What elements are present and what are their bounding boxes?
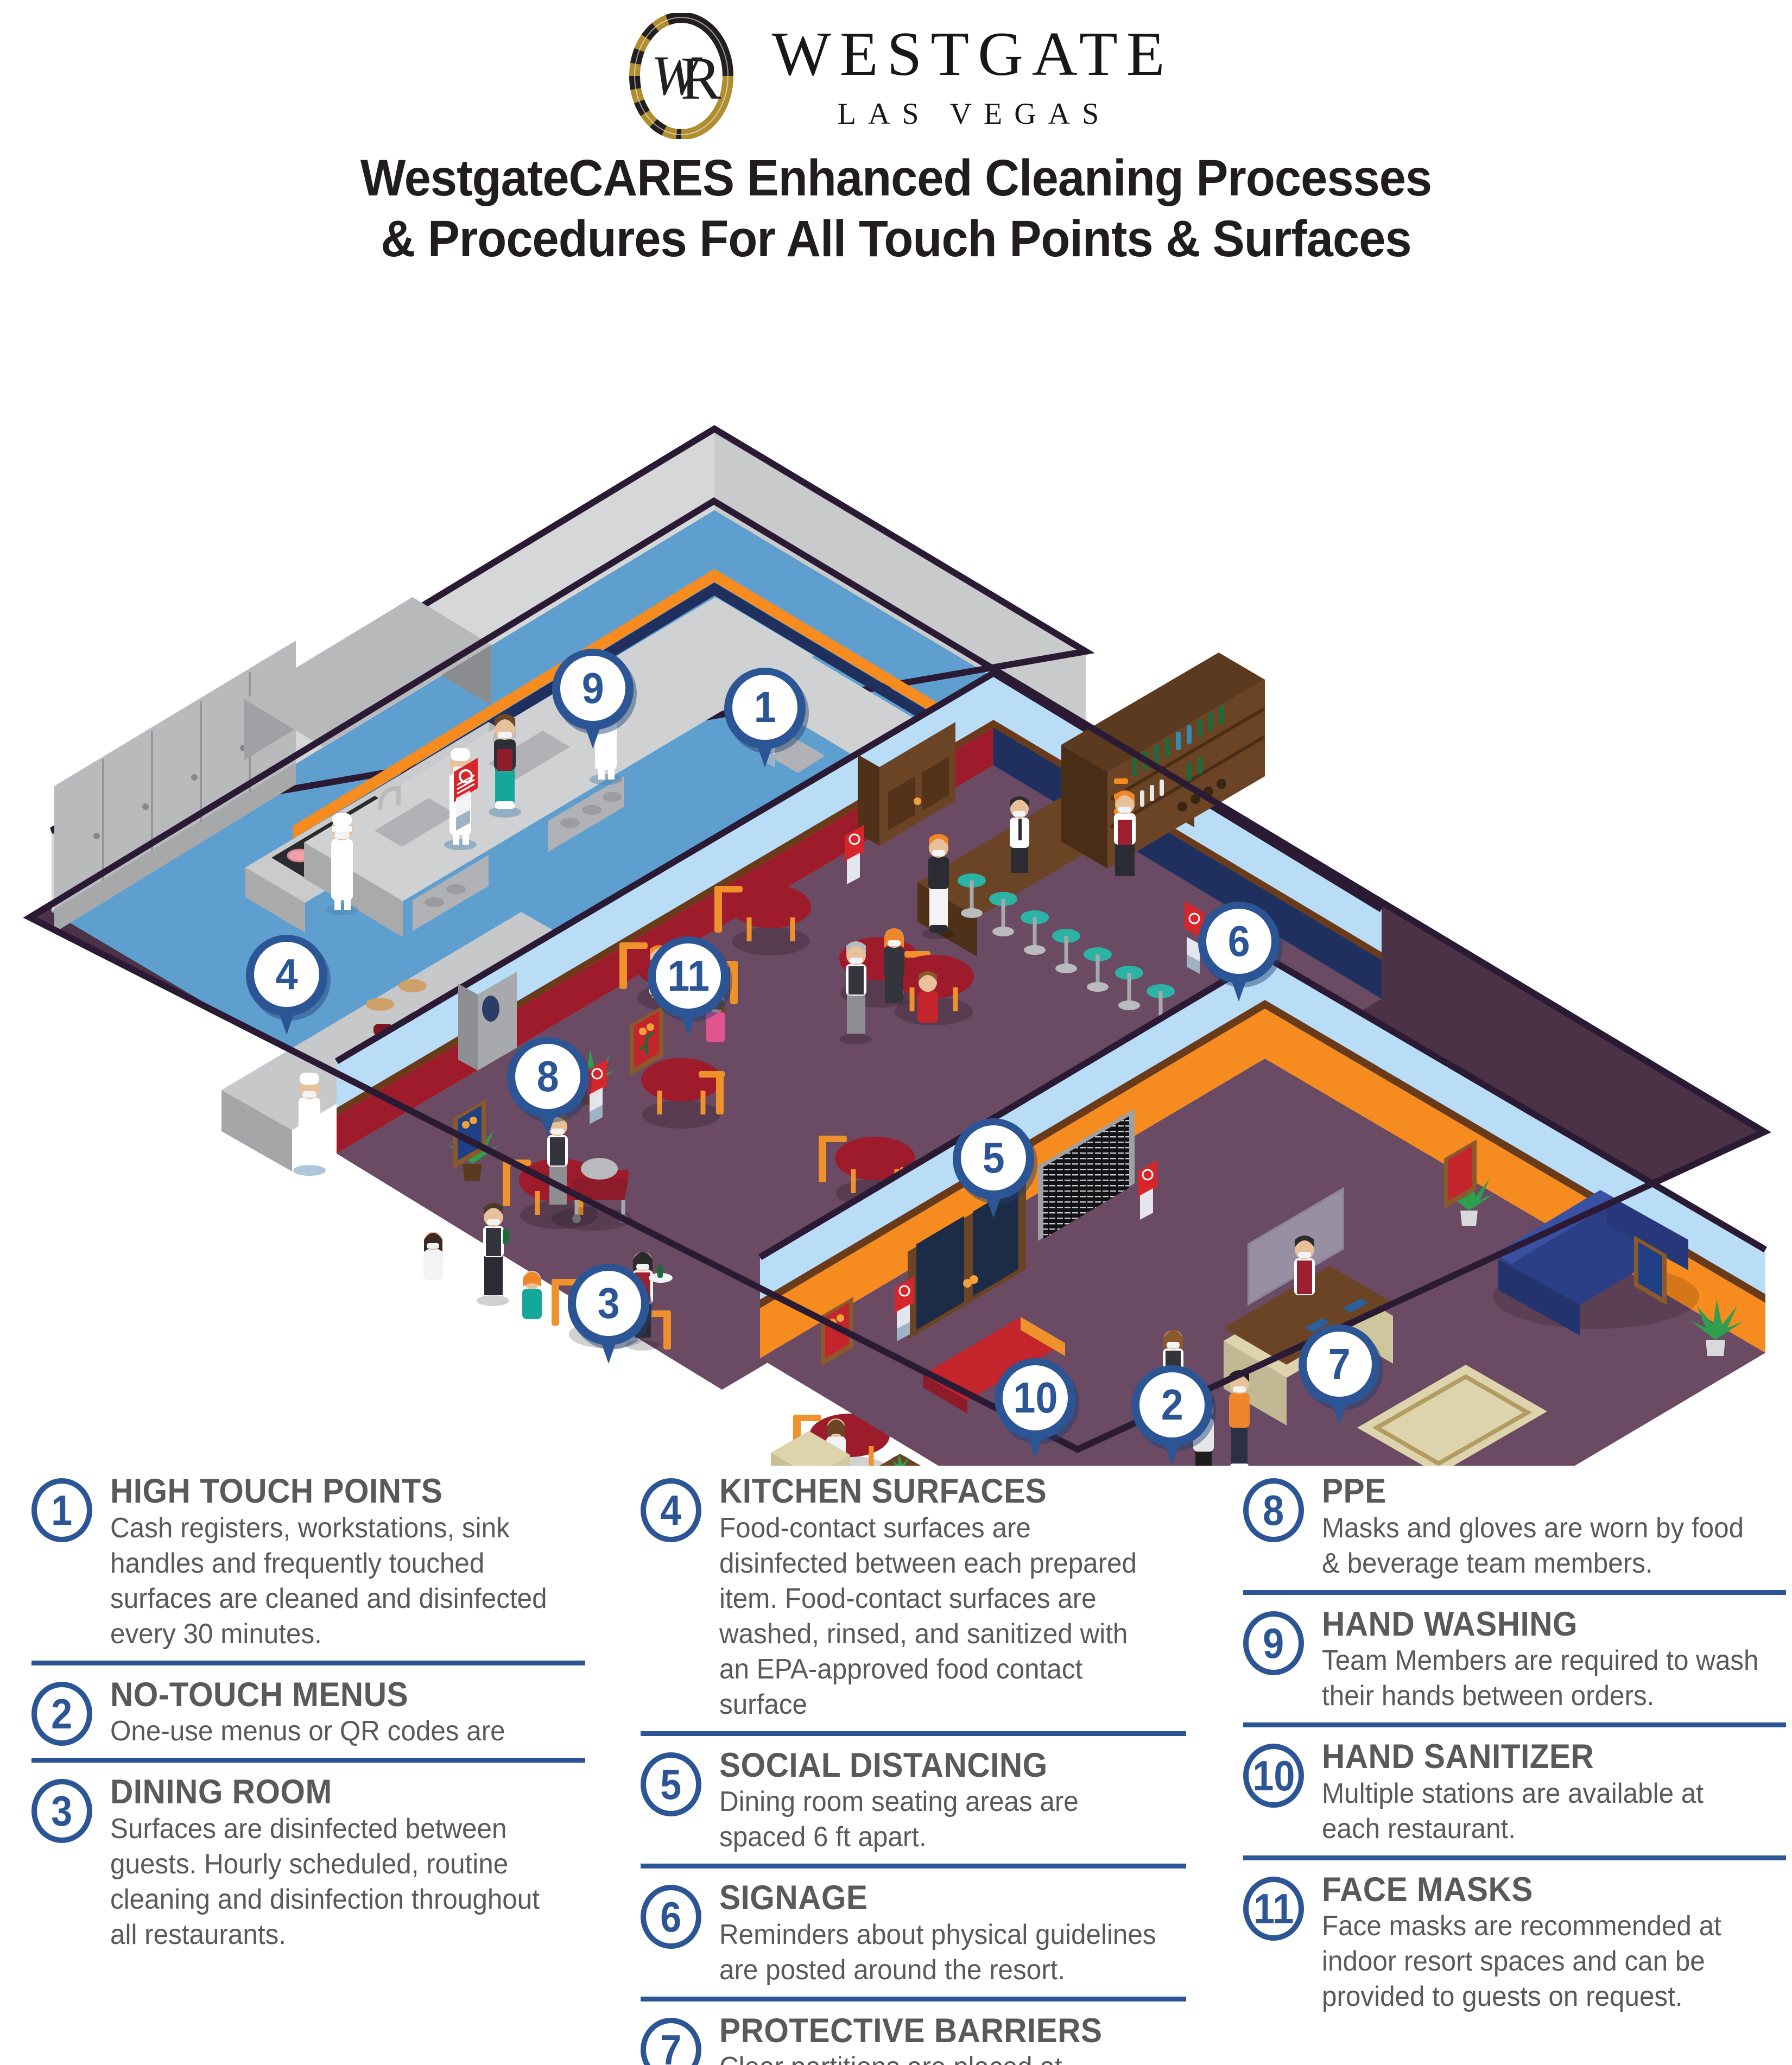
- pin-number: 10: [1013, 1376, 1058, 1420]
- legend-title: SOCIAL DISTANCING: [719, 1748, 1154, 1784]
- legend-item-hand-washing: 9 HAND WASHING Team Members are required…: [1243, 1607, 1786, 1714]
- pin-number: 2: [1161, 1383, 1183, 1427]
- legend-badge-10: 10: [1243, 1744, 1304, 1808]
- legend-item-signage: 6 SIGNAGE Reminders about physical guide…: [641, 1880, 1186, 1988]
- legend-body: Food-contact surfaces are disinfected be…: [719, 1511, 1163, 1722]
- pin-number: 11: [667, 954, 710, 998]
- pin-marker-1[interactable]: 1: [724, 668, 806, 769]
- legend: 1 HIGH TOUCH POINTS Cash registers, work…: [0, 1474, 1792, 2049]
- legend-title: DINING ROOM: [110, 1775, 552, 1810]
- legend-body: Multiple stations are available at each …: [1322, 1776, 1763, 1847]
- legend-badge-4: 4: [641, 1478, 701, 1542]
- legend-divider: [1243, 1722, 1786, 1727]
- pin-marker-7[interactable]: 7: [1299, 1325, 1380, 1426]
- pin-marker-11[interactable]: 11: [648, 936, 729, 1037]
- legend-title: NO-TOUCH MENUS: [110, 1677, 552, 1713]
- isometric-scene-svg: 6 FT: [0, 293, 1792, 1466]
- brand-logo: W R WESTGATE LAS VEGAS: [0, 11, 1792, 141]
- legend-title: HIGH TOUCH POINTS: [110, 1474, 552, 1510]
- legend-title: PPE: [1322, 1474, 1753, 1510]
- pin-number: 5: [983, 1136, 1005, 1180]
- pin-number: 4: [276, 953, 298, 996]
- pin-number: 3: [598, 1282, 620, 1325]
- pin-marker-3[interactable]: 3: [568, 1264, 649, 1365]
- pin-number: 6: [1228, 920, 1250, 963]
- legend-divider: [641, 1731, 1186, 1736]
- legend-divider: [641, 1864, 1186, 1868]
- title-line-1: WestgateCARES Enhanced Cleaning Processe…: [63, 148, 1730, 208]
- legend-body: Surfaces are disinfected between guests.…: [110, 1811, 561, 1953]
- legend-badge-11: 11: [1243, 1877, 1304, 1941]
- legend-title: PROTECTIVE BARRIERS: [719, 2013, 1154, 2049]
- brand-location: LAS VEGAS: [826, 99, 1111, 129]
- legend-title: HAND SANITIZER: [1322, 1739, 1753, 1775]
- pin-number: 8: [537, 1055, 559, 1098]
- legend-body: Clear partitions are placed at ordering …: [719, 2050, 1163, 2065]
- page-title: WestgateCARES Enhanced Cleaning Processe…: [63, 148, 1730, 269]
- legend-badge-3: 3: [31, 1779, 92, 1843]
- legend-item-kitchen-surfaces: 4 KITCHEN SURFACES Food-contact surfaces…: [641, 1474, 1186, 1722]
- legend-divider: [1243, 1590, 1786, 1595]
- legend-item-social-distancing: 5 SOCIAL DISTANCING Dining room seating …: [641, 1748, 1186, 1855]
- brand-name: WESTGATE: [763, 23, 1173, 86]
- svg-text:R: R: [681, 45, 721, 112]
- legend-badge-2: 2: [31, 1682, 92, 1746]
- legend-body: Reminders about physical guidelines are …: [719, 1917, 1163, 1988]
- legend-item-face-masks: 11 FACE MASKS Face masks are recommended…: [1243, 1872, 1786, 2015]
- legend-divider: [641, 1997, 1186, 2001]
- legend-item-high-touch-points: 1 HIGH TOUCH POINTS Cash registers, work…: [31, 1474, 585, 1652]
- pin-marker-9[interactable]: 9: [552, 649, 634, 750]
- legend-column-2: 4 KITCHEN SURFACES Food-contact surfaces…: [641, 1474, 1186, 2065]
- legend-body: One-use menus or QR codes are: [110, 1714, 561, 1749]
- pin-marker-4[interactable]: 4: [246, 935, 327, 1036]
- legend-badge-6: 6: [641, 1885, 701, 1949]
- legend-divider: [31, 1758, 585, 1763]
- legend-body: Face masks are recommended at indoor res…: [1322, 1909, 1763, 2015]
- legend-item-dining-room: 3 DINING ROOM Surfaces are disinfected b…: [31, 1775, 585, 1953]
- legend-item-hand-sanitizer: 10 HAND SANITIZER Multiple stations are …: [1243, 1739, 1786, 1847]
- legend-badge-5: 5: [641, 1752, 701, 1816]
- pin-marker-5[interactable]: 5: [953, 1118, 1034, 1219]
- legend-divider: [1243, 1855, 1786, 1860]
- legend-item-ppe: 8 PPE Masks and gloves are worn by food …: [1243, 1474, 1786, 1581]
- pin-marker-6[interactable]: 6: [1198, 902, 1280, 1003]
- pin-number: 1: [754, 686, 776, 729]
- legend-badge-9: 9: [1243, 1611, 1304, 1675]
- legend-title: KITCHEN SURFACES: [719, 1474, 1154, 1510]
- westgate-wreath-logo-icon: W R: [618, 13, 744, 139]
- legend-item-protective-barriers: 7 PROTECTIVE BARRIERS Clear partitions a…: [641, 2013, 1186, 2065]
- pin-marker-2[interactable]: 2: [1131, 1365, 1213, 1466]
- pin-number: 7: [1328, 1342, 1351, 1386]
- legend-badge-8: 8: [1243, 1478, 1304, 1542]
- title-line-2: & Procedures For All Touch Points & Surf…: [63, 208, 1730, 269]
- legend-badge-7: 7: [641, 2018, 701, 2065]
- pin-marker-10[interactable]: 10: [995, 1358, 1076, 1459]
- legend-body: Masks and gloves are worn by food & beve…: [1322, 1511, 1763, 1581]
- legend-column-1: 1 HIGH TOUCH POINTS Cash registers, work…: [31, 1474, 585, 1961]
- pin-marker-8[interactable]: 8: [507, 1037, 588, 1138]
- legend-title: HAND WASHING: [1322, 1607, 1753, 1643]
- bartender: [1114, 790, 1136, 876]
- brand-wordmark: WESTGATE LAS VEGAS: [763, 23, 1173, 129]
- legend-body: Team Members are required to wash their …: [1322, 1643, 1763, 1714]
- legend-badge-1: 1: [31, 1478, 92, 1542]
- legend-item-no-touch-menus: 2 NO-TOUCH MENUS One-use menus or QR cod…: [31, 1677, 585, 1750]
- legend-title: FACE MASKS: [1322, 1872, 1753, 1908]
- pin-number: 9: [582, 667, 604, 710]
- isometric-restaurant-illustration: 6 FT: [0, 293, 1792, 1466]
- legend-divider: [31, 1661, 585, 1665]
- legend-body: Cash registers, workstations, sink handl…: [110, 1511, 561, 1652]
- legend-body: Dining room seating areas are spaced 6 f…: [719, 1784, 1163, 1855]
- legend-column-3: 8 PPE Masks and gloves are worn by food …: [1243, 1474, 1786, 2023]
- infographic-page: W R WESTGATE LAS VEGAS WestgateCARES Enh…: [0, 0, 1792, 2065]
- legend-title: SIGNAGE: [719, 1880, 1154, 1916]
